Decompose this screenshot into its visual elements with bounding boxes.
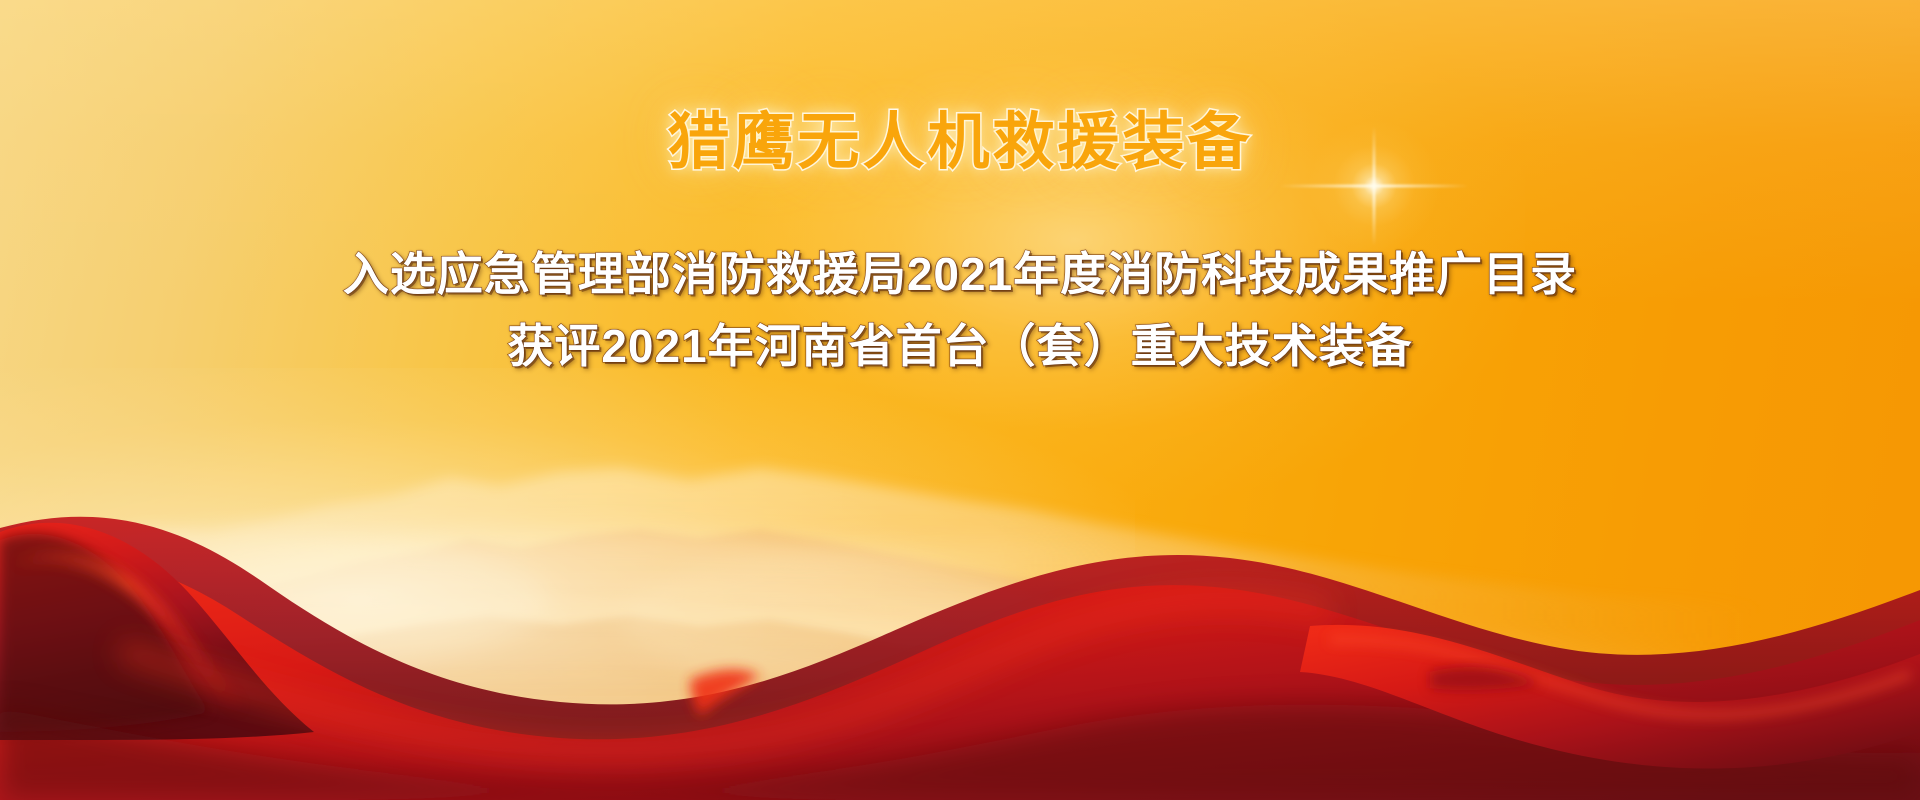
sparkle-icon — [1284, 126, 1464, 246]
subtitle-line-1: 入选应急管理部消防救援局2021年度消防科技成果推广目录 — [0, 246, 1920, 304]
red-silk-ribbon — [0, 440, 1920, 800]
promo-banner: 猎鹰无人机救援装备 入选应急管理部消防救援局2021年度消防科技成果推广目录 获… — [0, 0, 1920, 800]
banner-text-block: 猎鹰无人机救援装备 入选应急管理部消防救援局2021年度消防科技成果推广目录 获… — [0, 0, 1920, 376]
title-row: 猎鹰无人机救援装备 — [0, 112, 1920, 198]
page-title: 猎鹰无人机救援装备 — [667, 112, 1252, 174]
subtitle-line-2: 获评2021年河南省首台（套）重大技术装备 — [0, 318, 1920, 376]
